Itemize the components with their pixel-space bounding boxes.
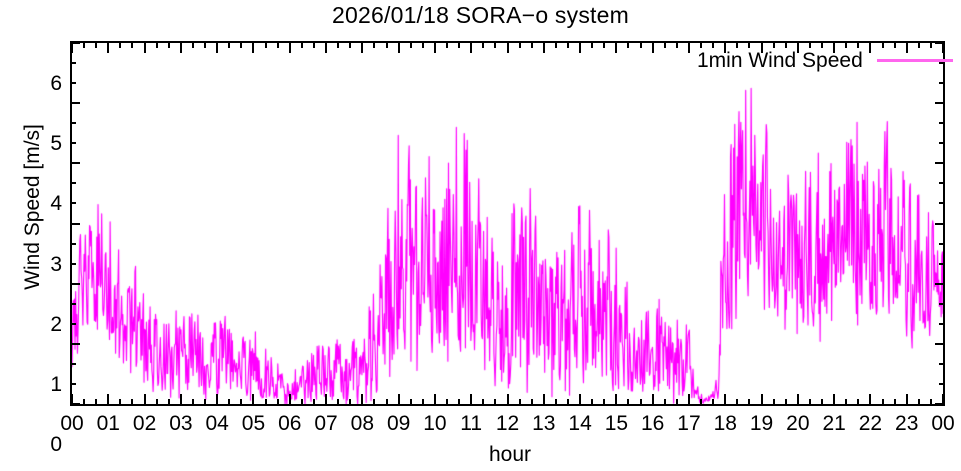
x-tick-minor: [337, 41, 339, 48]
x-tick-mark: [71, 41, 73, 53]
y-tick-minor: [70, 383, 76, 385]
y-tick-label-6: 6: [20, 73, 62, 94]
x-tick-minor: [845, 41, 847, 48]
x-tick-minor: [894, 41, 896, 48]
x-tick-minor: [664, 41, 666, 48]
y-tick-label-3: 3: [20, 254, 62, 275]
x-tick-minor: [119, 399, 121, 406]
x-tick-mark: [252, 394, 254, 406]
x-tick-minor: [531, 399, 533, 406]
x-tick-minor: [277, 41, 279, 48]
x-tick-minor: [131, 399, 133, 406]
x-tick-minor: [700, 41, 702, 48]
x-tick-minor: [422, 41, 424, 48]
x-tick-mark: [71, 394, 73, 406]
y-tick-minor: [70, 363, 76, 365]
x-tick-mark: [615, 394, 617, 406]
x-tick-mark: [107, 394, 109, 406]
x-tick-minor: [83, 41, 85, 48]
x-tick-minor: [482, 41, 484, 48]
x-tick-minor: [240, 399, 242, 406]
x-tick-minor: [700, 399, 702, 406]
y-axis-tick-labels: 0123456: [10, 41, 62, 406]
x-tick-minor: [119, 41, 121, 48]
x-tick-mark: [543, 41, 545, 53]
x-tick-mark: [216, 41, 218, 53]
x-tick-minor: [676, 41, 678, 48]
x-tick-mark: [107, 41, 109, 53]
x-tick-mark: [180, 394, 182, 406]
legend-label-1min-wind-speed: 1min Wind Speed: [697, 50, 863, 71]
x-tick-mark: [470, 41, 472, 53]
x-tick-minor: [192, 41, 194, 48]
x-tick-minor: [531, 41, 533, 48]
y-tick-mark: [70, 102, 80, 104]
x-tick-mark: [434, 41, 436, 53]
x-tick-mark: [688, 41, 690, 53]
x-tick-minor: [882, 41, 884, 48]
x-tick-minor: [265, 399, 267, 406]
x-tick-minor: [494, 399, 496, 406]
x-tick-minor: [640, 41, 642, 48]
y-tick-minor: [70, 82, 76, 84]
x-tick-minor: [410, 41, 412, 48]
x-tick-minor: [664, 399, 666, 406]
y-tick-minor: [70, 62, 76, 64]
y-tick-minor: [939, 202, 945, 204]
y-tick-minor: [939, 303, 945, 305]
y-tick-mark: [70, 223, 80, 225]
x-tick-mark: [652, 394, 654, 406]
x-tick-mark: [797, 394, 799, 406]
y-tick-mark: [935, 162, 945, 164]
x-tick-minor: [785, 41, 787, 48]
x-tick-mark: [361, 394, 363, 406]
x-tick-minor: [857, 399, 859, 406]
x-axis-title: hour: [0, 443, 961, 467]
x-tick-mark: [507, 394, 509, 406]
x-tick-minor: [168, 41, 170, 48]
x-tick-minor: [313, 399, 315, 406]
x-tick-minor: [422, 399, 424, 406]
x-tick-minor: [277, 399, 279, 406]
y-tick-mark: [935, 283, 945, 285]
y-tick-minor: [70, 243, 76, 245]
x-tick-mark: [144, 394, 146, 406]
x-tick-minor: [627, 41, 629, 48]
x-tick-mark: [398, 41, 400, 53]
x-tick-minor: [494, 41, 496, 48]
y-tick-minor: [939, 122, 945, 124]
x-tick-mark: [434, 394, 436, 406]
y-tick-minor: [70, 142, 76, 144]
x-tick-minor: [748, 399, 750, 406]
y-tick-mark: [935, 343, 945, 345]
y-tick-minor: [70, 182, 76, 184]
x-tick-minor: [809, 41, 811, 48]
x-tick-mark: [507, 41, 509, 53]
x-tick-minor: [857, 41, 859, 48]
y-tick-minor: [939, 383, 945, 385]
x-tick-minor: [446, 41, 448, 48]
x-tick-minor: [748, 41, 750, 48]
x-tick-minor: [301, 41, 303, 48]
x-tick-minor: [555, 399, 557, 406]
plot-area: [70, 41, 945, 406]
x-tick-mark: [361, 41, 363, 53]
x-tick-mark: [615, 41, 617, 53]
x-tick-mark: [325, 41, 327, 53]
x-tick-minor: [386, 399, 388, 406]
wind-speed-series-canvas: [72, 43, 943, 404]
x-tick-minor: [821, 41, 823, 48]
x-tick-mark: [579, 394, 581, 406]
x-tick-minor: [131, 41, 133, 48]
x-tick-mark: [398, 394, 400, 406]
x-tick-label-24: 00: [920, 412, 961, 436]
x-tick-minor: [519, 41, 521, 48]
y-tick-minor: [939, 142, 945, 144]
x-tick-minor: [373, 41, 375, 48]
x-tick-minor: [301, 399, 303, 406]
x-tick-minor: [313, 41, 315, 48]
x-tick-minor: [458, 41, 460, 48]
y-tick-minor: [939, 182, 945, 184]
wind-speed-chart-figure: 2026/01/18 SORA−o system Wind Speed [m/s…: [0, 0, 961, 471]
y-tick-label-2: 2: [20, 314, 62, 335]
x-tick-minor: [228, 41, 230, 48]
x-tick-mark: [869, 394, 871, 406]
x-tick-minor: [640, 399, 642, 406]
x-tick-minor: [882, 399, 884, 406]
x-tick-minor: [168, 399, 170, 406]
x-tick-minor: [712, 41, 714, 48]
x-tick-minor: [83, 399, 85, 406]
y-tick-minor: [939, 323, 945, 325]
y-tick-minor: [70, 122, 76, 124]
x-tick-minor: [736, 41, 738, 48]
x-tick-mark: [325, 394, 327, 406]
x-tick-minor: [337, 399, 339, 406]
x-tick-mark: [216, 394, 218, 406]
x-tick-mark: [761, 394, 763, 406]
y-tick-minor: [939, 263, 945, 265]
y-tick-label-1: 1: [20, 374, 62, 395]
y-tick-minor: [70, 202, 76, 204]
x-tick-mark: [289, 394, 291, 406]
x-tick-minor: [567, 399, 569, 406]
x-tick-minor: [809, 399, 811, 406]
y-tick-minor: [939, 82, 945, 84]
y-tick-label-5: 5: [20, 133, 62, 154]
x-tick-minor: [156, 41, 158, 48]
x-tick-mark: [144, 41, 146, 53]
y-tick-mark: [70, 162, 80, 164]
x-tick-minor: [845, 399, 847, 406]
x-tick-minor: [410, 399, 412, 406]
x-tick-minor: [192, 399, 194, 406]
y-tick-label-4: 4: [20, 193, 62, 214]
x-tick-mark: [180, 41, 182, 53]
x-tick-minor: [736, 399, 738, 406]
x-tick-mark: [543, 394, 545, 406]
x-tick-minor: [204, 41, 206, 48]
x-tick-minor: [930, 399, 932, 406]
x-tick-minor: [627, 399, 629, 406]
x-tick-minor: [555, 41, 557, 48]
x-tick-minor: [918, 399, 920, 406]
x-tick-mark: [906, 394, 908, 406]
x-tick-minor: [373, 399, 375, 406]
x-tick-minor: [228, 399, 230, 406]
x-tick-minor: [95, 399, 97, 406]
x-tick-minor: [95, 41, 97, 48]
x-tick-minor: [386, 41, 388, 48]
x-tick-mark: [252, 41, 254, 53]
x-tick-minor: [821, 399, 823, 406]
x-tick-mark: [579, 41, 581, 53]
x-tick-minor: [591, 399, 593, 406]
x-tick-mark: [833, 394, 835, 406]
x-tick-minor: [712, 399, 714, 406]
x-tick-mark: [289, 41, 291, 53]
x-tick-mark: [652, 41, 654, 53]
y-tick-minor: [70, 263, 76, 265]
x-tick-minor: [265, 41, 267, 48]
x-tick-minor: [591, 41, 593, 48]
chart-title: 2026/01/18 SORA−o system: [0, 2, 961, 29]
x-tick-minor: [458, 399, 460, 406]
y-tick-minor: [939, 243, 945, 245]
x-tick-mark: [724, 394, 726, 406]
x-tick-minor: [446, 399, 448, 406]
x-tick-minor: [482, 399, 484, 406]
x-tick-minor: [785, 399, 787, 406]
x-tick-minor: [204, 399, 206, 406]
x-tick-minor: [349, 399, 351, 406]
y-tick-minor: [939, 363, 945, 365]
x-tick-minor: [519, 399, 521, 406]
y-tick-mark: [935, 102, 945, 104]
x-tick-minor: [603, 399, 605, 406]
x-tick-minor: [773, 399, 775, 406]
y-tick-minor: [70, 323, 76, 325]
x-tick-minor: [930, 41, 932, 48]
x-tick-minor: [773, 41, 775, 48]
x-tick-minor: [567, 41, 569, 48]
x-tick-minor: [894, 399, 896, 406]
y-tick-mark: [70, 343, 80, 345]
y-tick-mark: [70, 283, 80, 285]
legend: 1min Wind Speed: [697, 50, 953, 71]
y-tick-minor: [70, 303, 76, 305]
x-tick-minor: [240, 41, 242, 48]
legend-line-swatch: [877, 59, 953, 62]
x-tick-minor: [603, 41, 605, 48]
x-tick-mark: [470, 394, 472, 406]
x-tick-mark: [688, 394, 690, 406]
x-tick-minor: [349, 41, 351, 48]
x-tick-mark: [942, 394, 944, 406]
x-tick-minor: [676, 399, 678, 406]
x-tick-minor: [918, 41, 920, 48]
x-tick-minor: [156, 399, 158, 406]
y-tick-mark: [935, 223, 945, 225]
